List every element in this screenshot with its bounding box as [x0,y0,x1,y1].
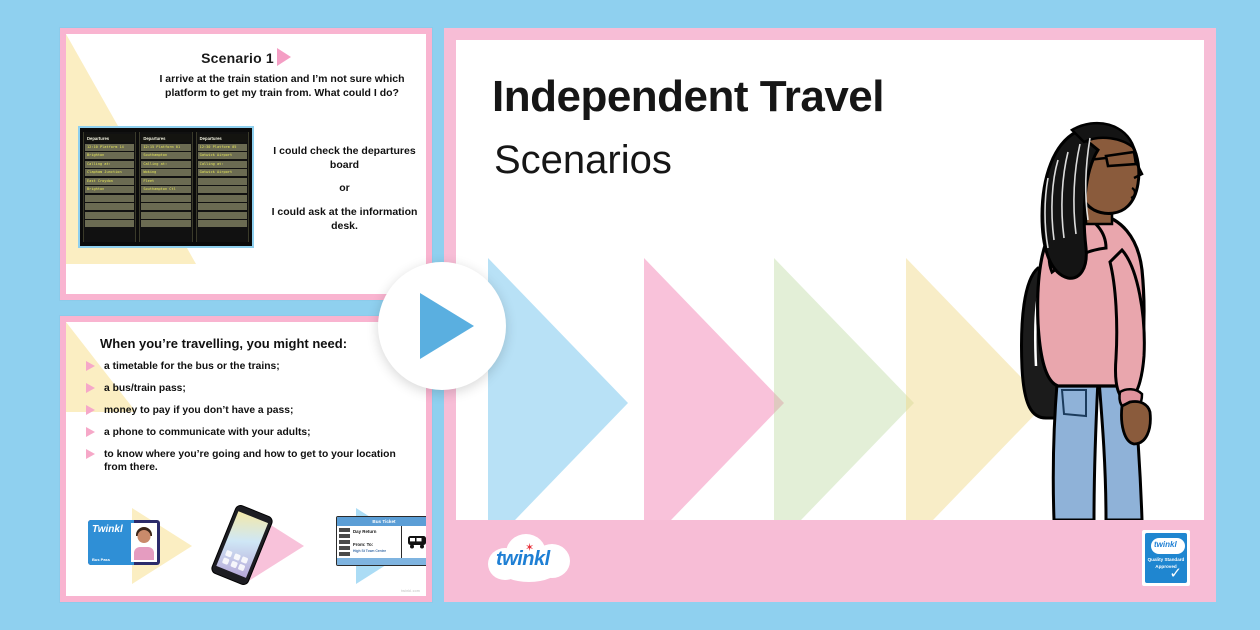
departures-column: Departures 12:10 Platform 14 Brighton Ca… [83,132,136,242]
ticket-line-3: High St Town Centre [353,549,386,553]
bus-icon [401,526,426,558]
departures-row: Calling at: [141,161,190,168]
app-icon [225,550,233,558]
departures-row: Calling at: [85,161,134,168]
list-item-label: to know where you’re going and how to ge… [104,449,396,473]
twinkl-logo-label: twinkl [496,548,550,571]
twinkl-logo[interactable]: ✶ twinkl [484,532,576,584]
barcode-bar [339,528,350,532]
bullet-triangle-icon [86,383,95,393]
screenshot-root: Scenario 1 I arrive at the train station… [0,0,1260,630]
bullet-triangle-icon [86,405,95,415]
bus-pass-card: Twinkl Bus Pass [88,520,160,565]
badge-logo-label: twinkl [1154,540,1177,549]
departures-row [85,195,134,202]
phone-app-icons [222,550,249,572]
card-logo-label: Twinkl [92,524,123,535]
departures-row [198,186,247,193]
barcode-bar [339,552,350,556]
list-item-label: a phone to communicate with your adults; [104,427,311,438]
check-icon: ✓ [1169,566,1182,581]
departures-row: Southampton Ctl [141,186,190,193]
scenario-answer-2: I could ask at the information desk. [272,206,418,232]
quality-standard-badge: twinkl Quality Standard Approved ✓ [1142,530,1190,586]
departures-row [85,203,134,210]
badge-line-1: Quality Standard [1145,557,1187,562]
ticket-barcode [339,528,350,556]
scenario-question: I arrive at the train station and I’m no… [152,72,412,100]
triangle-icon [277,48,291,66]
departures-row: Woking [141,169,190,176]
bullet-triangle-icon [86,427,95,437]
departures-rows: 12:30 Platform 05 Gatwick Airport Callin… [198,144,247,228]
app-icon [230,560,238,568]
list-item: money to pay if you don’t have a pass; [76,404,416,417]
departures-row [198,220,247,227]
departures-column-title: Departures [198,134,247,142]
app-icon [233,553,241,561]
main-slide-footer: ✶ twinkl twinkl Quality Standard Approve… [456,520,1204,602]
app-icon [222,557,230,565]
list-item-label: a bus/train pass; [104,383,186,394]
watermark-label: twinkl.com [401,589,420,593]
travel-items-illustrations: Twinkl Bus Pass [66,500,426,592]
departures-row [141,195,190,202]
departures-row [198,212,247,219]
departures-row: 12:15 Platform 01 [141,144,190,151]
barcode-bar [339,534,350,538]
departures-rows: 12:15 Platform 01 Southampton Calling at… [141,144,190,228]
departures-row [141,203,190,210]
barcode-bar [339,546,350,550]
departures-row [198,178,247,185]
departures-row [198,195,247,202]
page-subtitle: Scenarios [494,138,672,183]
page-title: Independent Travel [492,72,884,122]
departures-row [141,212,190,219]
travel-needs-heading: When you’re travelling, you might need: [100,336,416,351]
departures-row: 12:30 Platform 05 [198,144,247,151]
app-icon [241,556,249,564]
departures-board: Departures 12:10 Platform 14 Brighton Ca… [78,126,254,248]
bus-ticket: Bus Ticket Day Return From: To: High St … [336,516,426,566]
ticket-header-label: Bus Ticket [337,517,426,526]
departures-row: Fleet [141,178,190,185]
departures-row: Southampton [141,152,190,159]
departures-row: Brighton [85,152,134,159]
star-icon: ✶ [525,543,534,554]
arrow-blue-icon [488,258,628,520]
arrow-pink-icon [644,258,784,520]
play-video-button[interactable] [378,262,506,390]
play-icon [420,293,474,359]
departures-row [85,212,134,219]
list-item: a timetable for the bus or the trains; [76,360,416,373]
list-item: to know where you’re going and how to ge… [76,448,416,475]
departures-row: Calling at: [198,161,247,168]
slide-1-canvas: Scenario 1 I arrive at the train station… [66,34,426,294]
list-item-label: money to pay if you don’t have a pass; [104,405,293,416]
main-slide-canvas: Independent Travel Scenarios [456,40,1204,520]
ticket-footer [337,558,426,565]
card-photo [131,523,157,562]
departures-row [198,203,247,210]
departures-rows: 12:10 Platform 14 Brighton Calling at: C… [85,144,134,228]
app-icon [238,564,246,572]
scenario-answers: I could check the departures board or I … [271,144,418,233]
card-subtitle-label: Bus Pass [92,557,110,562]
departures-row: Gatwick Airport [198,169,247,176]
character-illustration [1002,100,1182,520]
scenario-heading-label: Scenario 1 [201,50,274,66]
badge-inner: twinkl Quality Standard Approved ✓ [1145,533,1187,583]
ticket-body: Day Return From: To: High St Town Centre [337,526,401,558]
arrow-green-icon [774,258,914,520]
travel-needs-list: a timetable for the bus or the trains; a… [76,360,416,483]
list-item: a bus/train pass; [76,382,416,395]
photo-face [138,530,151,543]
departures-row [85,220,134,227]
departures-row [141,220,190,227]
photo-body [134,547,154,560]
list-item: a phone to communicate with your adults; [76,426,416,439]
departures-row: Clapham Junction [85,169,134,176]
scenario-answer-or: or [271,181,418,195]
departures-row: Brighton [85,186,134,193]
list-item-label: a timetable for the bus or the trains; [104,361,280,372]
departures-column: Departures 12:15 Platform 01 Southampton… [139,132,192,242]
departures-row: Gatwick Airport [198,152,247,159]
departures-column: Departures 12:30 Platform 05 Gatwick Air… [196,132,249,242]
ticket-line-2: From: To: [353,542,373,547]
bullet-triangle-icon [86,449,95,459]
scenario-heading: Scenario 1 [66,48,426,66]
departures-row: 12:10 Platform 14 [85,144,134,151]
scenario-answer-1: I could check the departures board [273,145,415,171]
departures-column-title: Departures [85,134,134,142]
slide-2-canvas: When you’re travelling, you might need: … [66,322,426,596]
departures-row: East Croydon [85,178,134,185]
slide-thumbnail-1[interactable]: Scenario 1 I arrive at the train station… [60,28,432,300]
departures-column-title: Departures [141,134,190,142]
ticket-line-1: Day Return [353,529,376,534]
main-slide[interactable]: Independent Travel Scenarios [444,28,1216,602]
slide-thumbnail-2[interactable]: When you’re travelling, you might need: … [60,316,432,602]
barcode-bar [339,540,350,544]
bullet-triangle-icon [86,361,95,371]
